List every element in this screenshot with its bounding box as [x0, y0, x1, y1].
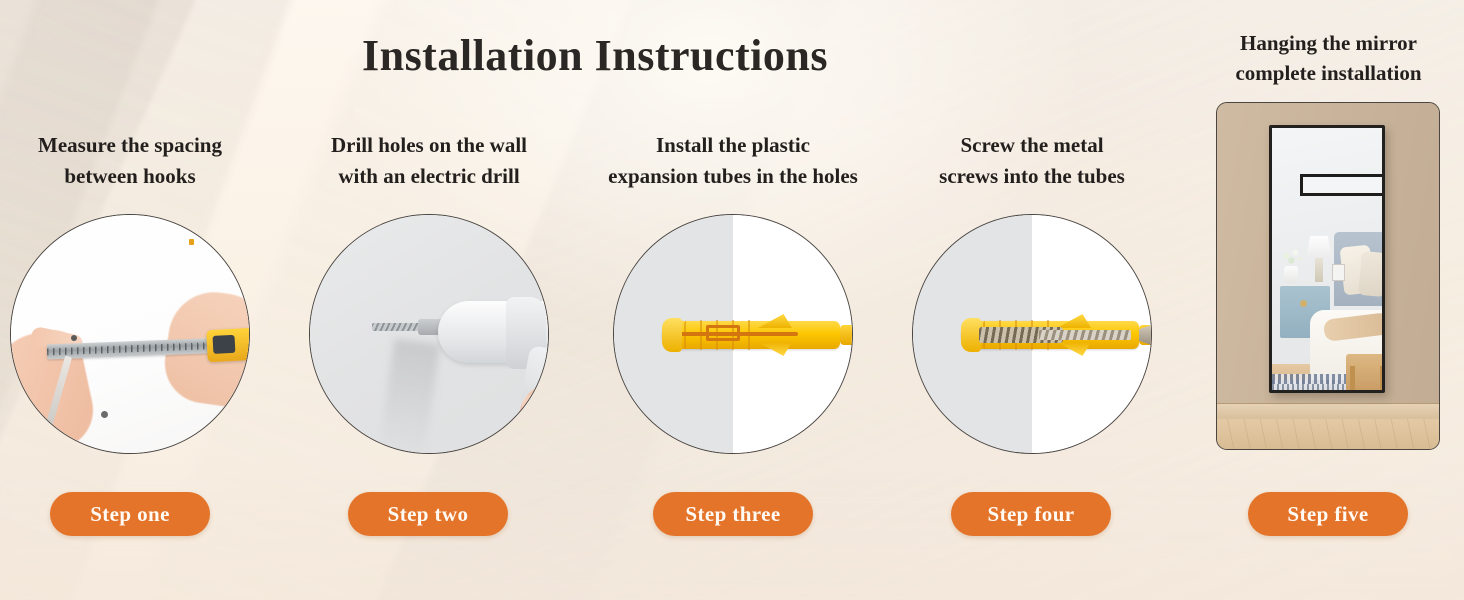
metal-screw-icon [1039, 323, 1152, 347]
step-two-button[interactable]: Step two [348, 492, 508, 536]
mirror-reflection-lamp-shade [1306, 236, 1332, 258]
step-two-caption-line1: Drill holes on the wall [293, 130, 565, 161]
step-four-button[interactable]: Step four [951, 492, 1111, 536]
step-five-column: Hanging the mirror complete installation [1193, 28, 1464, 88]
wall-shadow [378, 338, 440, 454]
step-two-caption: Drill holes on the wall with an electric… [293, 130, 565, 192]
mirror-reflection-picture-frame [1332, 264, 1345, 281]
room-wood-floor [1217, 419, 1439, 449]
step-four-image-wrap [912, 214, 1152, 454]
step-one-column: Measure the spacing between hooks [0, 130, 266, 454]
step-four-caption-line1: Screw the metal [896, 130, 1168, 161]
step-two-caption-line2: with an electric drill [293, 161, 565, 192]
step-three-button[interactable]: Step three [653, 492, 813, 536]
mirror-reflection-window [1300, 174, 1385, 196]
electric-drill-scene-icon [310, 215, 548, 453]
hand-holding-drill-icon [516, 380, 549, 454]
mirror-reflection-lamp-base [1315, 258, 1323, 282]
step-three-caption-line1: Install the plastic [597, 130, 869, 161]
anchor-collar [961, 318, 981, 352]
drill-bit-icon [372, 323, 424, 331]
tape-measure-case-icon [206, 328, 250, 362]
step-one-caption-line2: between hooks [0, 161, 266, 192]
room-baseboard [1217, 403, 1439, 419]
step-three-photo-circle [613, 214, 853, 454]
step-three-caption: Install the plastic expansion tubes in t… [597, 130, 869, 192]
full-length-mirror [1269, 125, 1385, 393]
page-title: Installation Instructions [0, 30, 1190, 81]
step-four-photo-circle [912, 214, 1152, 454]
tape-measure-scene-icon [11, 215, 249, 453]
wall-mark-dot-1 [71, 335, 77, 341]
step-one-caption: Measure the spacing between hooks [0, 130, 266, 192]
yellow-speck-icon [189, 239, 194, 245]
step-four-caption: Screw the metal screws into the tubes [896, 130, 1168, 192]
step-three-column: Install the plastic expansion tubes in t… [597, 130, 869, 454]
screw-head [1139, 323, 1152, 347]
step-five-caption: Hanging the mirror complete installation [1193, 28, 1464, 88]
mirror-reflection-vase [1284, 266, 1298, 284]
anchor-collar [662, 318, 682, 352]
step-four-column: Screw the metal screws into the tubes [896, 130, 1168, 454]
step-one-image-wrap [10, 214, 250, 454]
step-two-photo-circle [309, 214, 549, 454]
step-four-caption-line2: screws into the tubes [896, 161, 1168, 192]
screw-thread [1039, 330, 1131, 340]
plastic-expansion-anchor-icon [662, 317, 853, 353]
wall-mark-dot-2 [101, 411, 108, 418]
step-five-photo [1216, 102, 1440, 450]
mirror-reflection-wooden-bench [1346, 354, 1385, 393]
step-five-caption-line1: Hanging the mirror [1193, 28, 1464, 58]
step-one-caption-line1: Measure the spacing [0, 130, 266, 161]
step-five-caption-line2: complete installation [1193, 58, 1464, 88]
mirror-reflection-pillow-2 [1358, 251, 1385, 297]
infographic-canvas: Installation Instructions Measure the sp… [0, 0, 1464, 600]
step-three-caption-line2: expansion tubes in the holes [597, 161, 869, 192]
anchor-tip [840, 325, 853, 345]
tape-ticks-icon [47, 342, 227, 356]
step-one-button[interactable]: Step one [50, 492, 210, 536]
mirror-reflection-flowers [1278, 246, 1306, 268]
step-five-button[interactable]: Step five [1248, 492, 1408, 536]
step-one-photo-circle [10, 214, 250, 454]
step-two-column: Drill holes on the wall with an electric… [293, 130, 565, 454]
step-three-image-wrap [613, 214, 853, 454]
anchor-slot-step [706, 325, 740, 341]
step-two-image-wrap [309, 214, 549, 454]
